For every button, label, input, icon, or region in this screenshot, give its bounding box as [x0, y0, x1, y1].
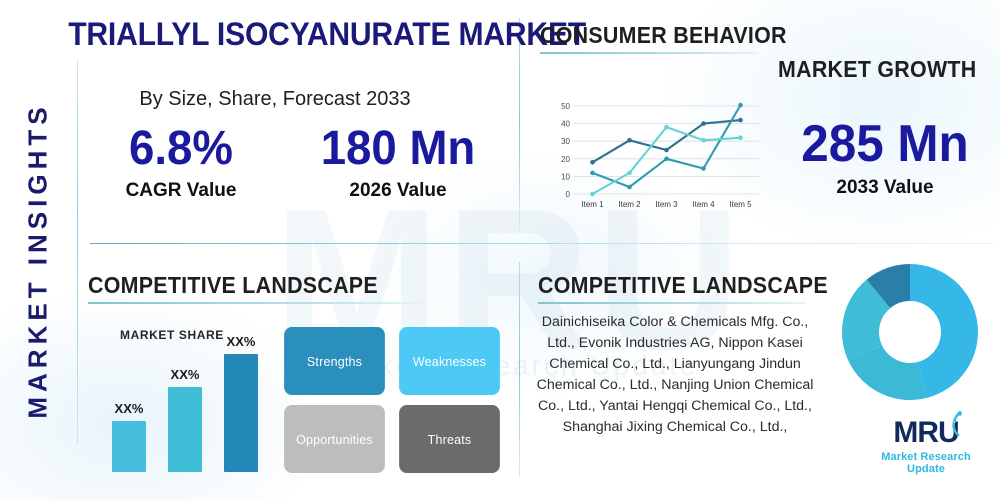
kpi-2026-value: 180 Mn	[305, 125, 491, 173]
section-rule-competitive-landscape-right	[538, 302, 806, 304]
data-point	[590, 171, 595, 176]
market-share-bar-chart: XX%XX%XX%	[100, 318, 270, 480]
data-point	[590, 192, 595, 197]
data-point	[738, 118, 743, 123]
data-point	[627, 185, 632, 190]
consumer-behavior-line-chart: 01020304050Item 1Item 2Item 3Item 4Item …	[548, 98, 763, 216]
kpi-2033-value: 285 Mn	[785, 118, 985, 170]
market-share-donut-chart	[840, 262, 980, 402]
swot-box-weaknesses[interactable]: Weaknesses	[399, 327, 500, 395]
kpi-cagr-value: 6.8%	[96, 125, 265, 173]
y-axis-tick: 30	[561, 137, 570, 146]
data-point	[738, 103, 743, 108]
y-axis-tick: 0	[566, 190, 571, 199]
x-axis-tick: Item 1	[581, 200, 604, 209]
swot-box-strengths[interactable]: Strengths	[284, 327, 385, 395]
horizontal-divider	[90, 243, 995, 244]
line-series-2	[593, 105, 741, 187]
data-point	[701, 121, 706, 126]
x-axis-tick: Item 4	[692, 200, 715, 209]
y-axis-tick: 40	[561, 120, 570, 129]
x-axis-tick: Item 3	[655, 200, 678, 209]
kpi-cagr: 6.8% CAGR Value	[92, 125, 270, 202]
y-axis-tick: 20	[561, 155, 570, 164]
swot-box-threats[interactable]: Threats	[399, 405, 500, 473]
kpi-2033: 285 Mn 2033 Value	[780, 118, 990, 199]
bar-value-label: XX%	[112, 401, 146, 416]
bar-value-label: XX%	[168, 367, 202, 382]
kpi-2033-label: 2033 Value	[780, 177, 990, 199]
bar	[112, 421, 146, 472]
section-heading-competitive-landscape-right: COMPETITIVE LANDSCAPE	[538, 272, 828, 299]
data-point	[738, 135, 743, 140]
swot-box-opportunities[interactable]: Opportunities	[284, 405, 385, 473]
side-divider	[77, 60, 78, 445]
data-point	[701, 138, 706, 143]
data-point	[701, 166, 706, 171]
bar-item: XX%	[112, 421, 146, 472]
logo-mark: MRU	[893, 418, 958, 448]
data-point	[627, 138, 632, 143]
data-point	[664, 125, 669, 130]
data-point	[664, 148, 669, 153]
data-point	[664, 157, 669, 162]
x-axis-tick: Item 5	[729, 200, 752, 209]
side-label: MARKET INSIGHTS	[23, 51, 54, 471]
bar-value-label: XX%	[224, 334, 258, 349]
y-axis-tick: 50	[561, 102, 570, 111]
data-point	[590, 160, 595, 165]
brand-logo: MRU Market Research Update	[862, 418, 990, 475]
bar-item: XX%	[168, 387, 202, 472]
company-list: Dainichiseika Color & Chemicals Mfg. Co.…	[530, 312, 820, 438]
section-heading-market-growth: MARKET GROWTH	[778, 56, 976, 83]
bar	[224, 354, 258, 472]
kpi-2026: 180 Mn 2026 Value	[300, 125, 496, 202]
page-subtitle: By Size, Share, Forecast 2033	[60, 88, 490, 111]
swot-matrix: StrengthsWeaknessesOpportunitiesThreats	[282, 327, 502, 477]
section-rule-competitive-landscape-left	[88, 302, 426, 304]
y-axis-tick: 10	[561, 172, 570, 181]
section-heading-competitive-landscape-left: COMPETITIVE LANDSCAPE	[88, 272, 378, 299]
x-axis-tick: Item 2	[618, 200, 641, 209]
section-heading-consumer-behavior: CONSUMER BEHAVIOR	[540, 22, 787, 49]
bar-item: XX%	[224, 354, 258, 472]
section-rule-consumer-behavior	[540, 52, 758, 54]
data-point	[627, 171, 632, 176]
logo-swoosh-icon	[947, 411, 963, 437]
bar	[168, 387, 202, 472]
kpi-cagr-label: CAGR Value	[92, 180, 270, 202]
infographic-root: MRU Market Research Update MARKET INSIGH…	[0, 0, 1000, 500]
vertical-divider-bottom	[519, 262, 520, 477]
logo-tagline: Market Research Update	[862, 451, 990, 475]
page-title: TRIALLYL ISOCYANURATE MARKET	[68, 16, 482, 53]
kpi-2026-label: 2026 Value	[300, 180, 496, 202]
